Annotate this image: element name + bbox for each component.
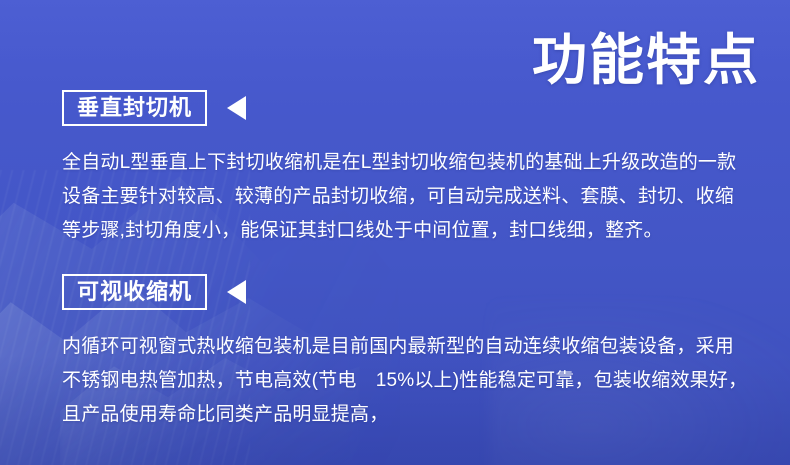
paragraph-line: 不锈钢电热管加热，节电高效(节电 15%以上)性能稳定可靠，包装收缩效果好， (62, 364, 756, 398)
badge-visible-shrink-machine: 可视收缩机 (62, 274, 207, 310)
paragraph-line: 且产品使用寿命比同类产品明显提高， (62, 398, 756, 432)
feature-section-vertical-sealer: 垂直封切机 全自动L型垂直上下封切收缩机是在L型封切收缩包装机的基础上升级改造的… (0, 88, 790, 248)
badge-vertical-sealer: 垂直封切机 (62, 90, 207, 126)
paragraph-line: 内循环可视窗式热收缩包装机是目前国内最新型的自动连续收缩包装设备，采用 (62, 330, 756, 364)
badge-row: 垂直封切机 (0, 88, 790, 128)
paragraph-visible-shrink-machine: 内循环可视窗式热收缩包装机是目前国内最新型的自动连续收缩包装设备，采用 不锈钢电… (0, 330, 790, 432)
page-title: 功能特点 (532, 27, 760, 93)
paragraph-vertical-sealer: 全自动L型垂直上下封切收缩机是在L型封切收缩包装机的基础上升级改造的一款 设备主… (0, 146, 790, 248)
paragraph-line: 全自动L型垂直上下封切收缩机是在L型封切收缩包装机的基础上升级改造的一款 (62, 146, 756, 180)
badge-label: 可视收缩机 (77, 281, 192, 303)
triangle-left-icon (227, 96, 246, 120)
paragraph-line: 等步骤,封切角度小，能保证其封口线处于中间位置，封口线细，整齐。 (62, 214, 756, 248)
badge-row: 可视收缩机 (0, 272, 790, 312)
feature-banner: 功能特点 垂直封切机 全自动L型垂直上下封切收缩机是在L型封切收缩包装机的基础上… (0, 0, 790, 465)
triangle-left-icon (227, 280, 246, 304)
paragraph-line: 设备主要针对较高、较薄的产品封切收缩，可自动完成送料、套膜、封切、收缩 (62, 180, 756, 214)
badge-label: 垂直封切机 (77, 97, 192, 119)
banner-content: 功能特点 垂直封切机 全自动L型垂直上下封切收缩机是在L型封切收缩包装机的基础上… (0, 0, 790, 465)
feature-section-visible-shrink-machine: 可视收缩机 内循环可视窗式热收缩包装机是目前国内最新型的自动连续收缩包装设备，采… (0, 272, 790, 432)
